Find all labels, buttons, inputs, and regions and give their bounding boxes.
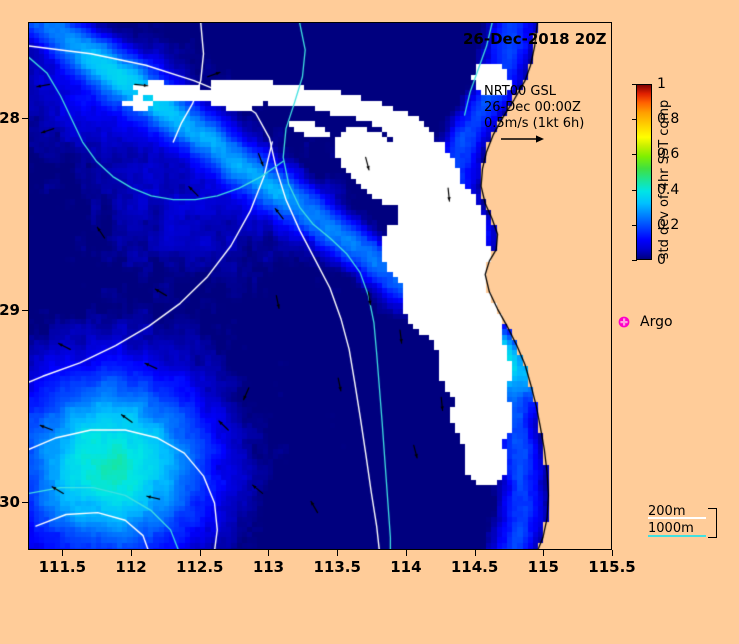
x-tick-label: 113.5: [313, 558, 360, 576]
x-tick: [543, 550, 544, 556]
arrow-right-icon: [500, 133, 546, 145]
x-tick: [406, 550, 407, 556]
annotation-vector-scale: 0.5m/s (1kt 6h): [484, 116, 584, 132]
y-tick: [22, 502, 28, 503]
colorbar-tick: [632, 190, 637, 191]
x-tick: [337, 550, 338, 556]
y-tick: [22, 310, 28, 311]
colorbar-tick-label: 1: [657, 76, 666, 92]
model-annotation-block: NRT00 GSL 26-Dec 00:00Z 0.5m/s (1kt 6h): [484, 84, 584, 132]
x-tick-label: 113: [253, 558, 284, 576]
x-tick-label: 114: [390, 558, 421, 576]
y-tick-label: -30: [0, 493, 20, 511]
y-tick: [22, 118, 28, 119]
depth-legend-row: 1000m: [648, 517, 710, 534]
x-tick: [612, 550, 613, 556]
colorbar-tick: [632, 225, 637, 226]
colorbar[interactable]: [636, 84, 652, 260]
annotation-model-name: NRT00 GSL: [484, 84, 584, 100]
depth-contour-legend: 200m 1000m: [648, 500, 710, 534]
x-tick: [475, 550, 476, 556]
depth-label-1000m: 1000m: [648, 521, 694, 536]
colorbar-tick: [632, 119, 637, 120]
depth-legend-row: 200m: [648, 500, 710, 517]
argo-float-marker-icon: [618, 316, 630, 328]
x-tick-label: 112: [115, 558, 146, 576]
y-tick-label: -29: [0, 301, 20, 319]
depth-legend-bracket: [708, 508, 717, 538]
depth-line-1000m: [648, 535, 706, 537]
x-tick: [62, 550, 63, 556]
argo-legend-label: Argo: [640, 314, 673, 330]
x-tick-label: 112.5: [176, 558, 223, 576]
x-tick-label: 115.5: [588, 558, 635, 576]
colorbar-title: std dev of 4hr SST comp: [657, 100, 672, 260]
x-tick-label: 114.5: [451, 558, 498, 576]
y-tick-label: -28: [0, 109, 20, 127]
depth-line-200m: [648, 517, 706, 519]
x-tick: [131, 550, 132, 556]
annotation-valid-time: 26-Dec 00:00Z: [484, 100, 584, 116]
figure-canvas: 26-Dec-2018 20Z NRT00 GSL 26-Dec 00:00Z …: [0, 0, 739, 592]
x-tick-label: 115: [528, 558, 559, 576]
colorbar-tick: [632, 84, 637, 85]
colorbar-tick: [632, 260, 637, 261]
x-tick: [200, 550, 201, 556]
x-tick: [268, 550, 269, 556]
colorbar-gradient: [636, 84, 652, 260]
x-tick-label: 111.5: [39, 558, 86, 576]
colorbar-tick: [632, 154, 637, 155]
map-title: 26-Dec-2018 20Z: [463, 30, 607, 48]
